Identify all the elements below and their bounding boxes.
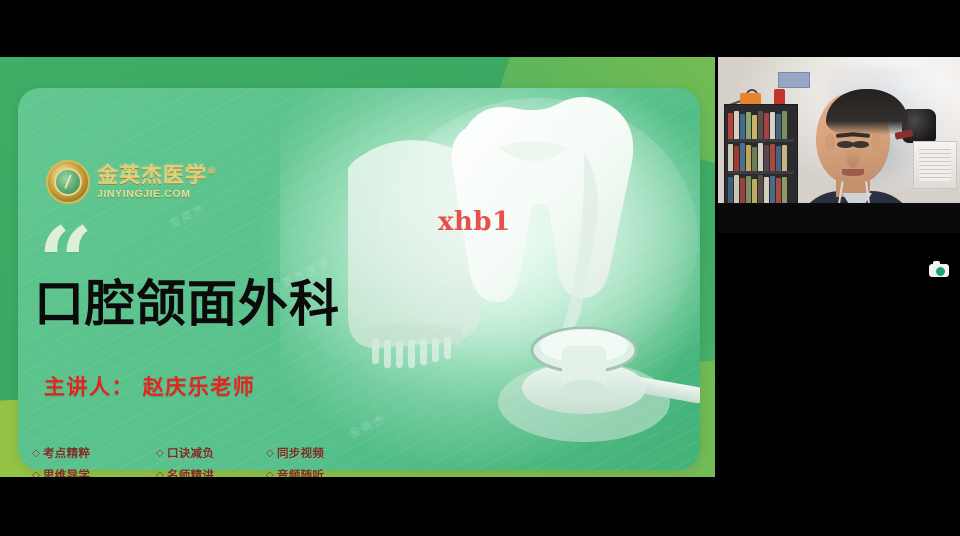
feature-item: ◇思维导学	[32, 467, 156, 477]
white-appliance	[913, 141, 957, 189]
gold-seal-icon	[46, 160, 90, 204]
feature-list: ◇考点精粹 ◇口诀减负 ◇同步视频 ◇思维导学 ◇名师精讲 ◇音频随听	[32, 442, 362, 477]
wall-poster	[778, 72, 810, 88]
screen-stage: 金英杰 金英杰医学 金英杰 金英杰医学 金英杰 金英杰医学® JINYINGJI…	[0, 0, 960, 536]
presenter-head	[816, 93, 890, 183]
feature-item: ◇名师精讲	[156, 467, 266, 477]
feature-label: 考点精粹	[43, 445, 90, 461]
brand-logo-text: 金英杰医学® JINYINGJIE.COM	[97, 165, 217, 200]
feature-label: 名师精讲	[167, 467, 214, 477]
screen-share-region[interactable]: 金英杰 金英杰医学 金英杰 金英杰医学 金英杰 金英杰医学® JINYINGJI…	[0, 57, 715, 477]
diamond-bullet-icon: ◇	[266, 470, 274, 478]
feature-label: 口诀减负	[167, 445, 214, 461]
bookshelf	[724, 104, 798, 207]
camera-icon[interactable]	[929, 261, 949, 277]
diamond-bullet-icon: ◇	[156, 470, 164, 478]
diamond-bullet-icon: ◇	[32, 448, 40, 459]
lecturer-name: 主讲人： 赵庆乐老师	[44, 371, 255, 401]
brand-name-en: JINYINGJIE.COM	[97, 189, 217, 200]
presenter-camera-feed[interactable]	[718, 57, 960, 233]
feature-item: ◇音频随听	[266, 467, 366, 477]
trademark-mark: ®	[207, 167, 217, 177]
feature-label: 音频随听	[277, 467, 324, 477]
feature-item: ◇同步视频	[266, 445, 366, 461]
slide-title: 口腔颌面外科	[34, 279, 340, 329]
diamond-bullet-icon: ◇	[32, 470, 40, 478]
brand-logo: 金英杰医学® JINYINGJIE.COM	[46, 160, 217, 204]
tooth-and-stethoscope-photo	[348, 88, 700, 470]
camera-letterbox	[718, 203, 960, 233]
feature-label: 同步视频	[277, 445, 324, 461]
faint-watermark: 金英杰	[166, 200, 208, 231]
presenter-hair	[826, 89, 908, 135]
feature-item: ◇考点精粹	[32, 445, 156, 461]
feature-item: ◇口诀减负	[156, 445, 266, 461]
user-watermark: xhb1	[438, 207, 511, 237]
brand-name-cn: 金英杰医学®	[97, 165, 217, 186]
feature-label: 思维导学	[43, 467, 90, 477]
diamond-bullet-icon: ◇	[266, 448, 274, 459]
diamond-bullet-icon: ◇	[156, 448, 164, 459]
